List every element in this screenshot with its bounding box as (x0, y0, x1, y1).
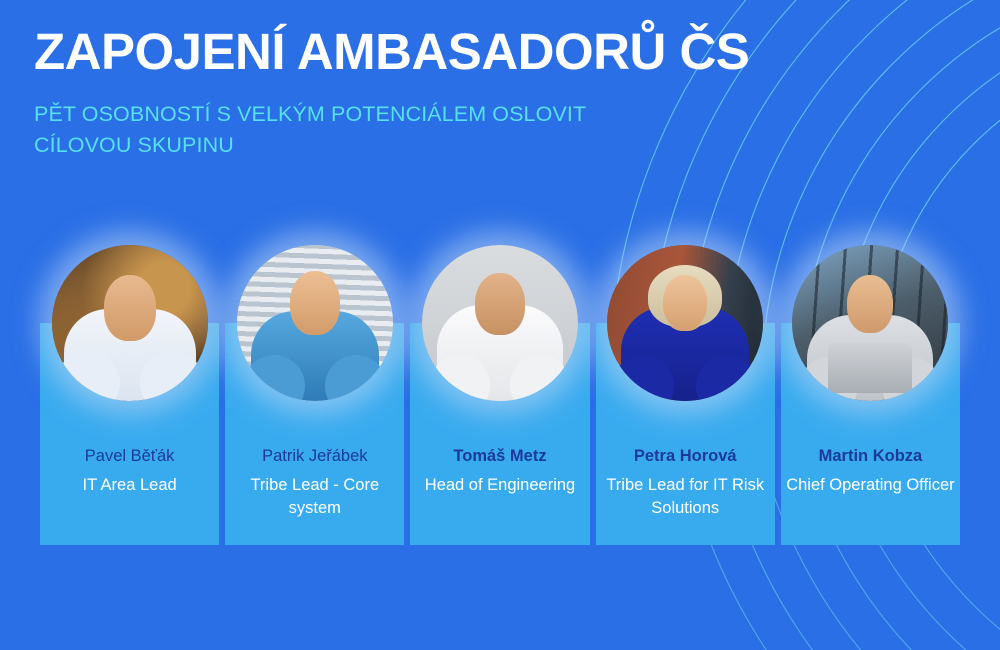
portrait-photo (607, 245, 763, 401)
person-card[interactable]: Tomáš Metz Head of Engineering (410, 245, 589, 545)
card-text: Petra Horová Tribe Lead for IT Risk Solu… (600, 445, 771, 519)
person-role: Head of Engineering (414, 474, 585, 496)
avatar (237, 245, 393, 401)
card-text: Pavel Běťák IT Area Lead (44, 445, 215, 497)
card-text: Tomáš Metz Head of Engineering (414, 445, 585, 497)
person-role: Tribe Lead for IT Risk Solutions (600, 474, 771, 519)
person-card[interactable]: Petra Horová Tribe Lead for IT Risk Solu… (596, 245, 775, 545)
ambassador-card-row: Pavel Běťák IT Area Lead Patrik Jeřábek … (40, 245, 960, 545)
card-text: Martin Kobza Chief Operating Officer (785, 445, 956, 497)
person-role: Chief Operating Officer (785, 474, 956, 496)
portrait-photo (237, 245, 393, 401)
person-card[interactable]: Martin Kobza Chief Operating Officer (781, 245, 960, 545)
person-name: Tomáš Metz (414, 445, 585, 467)
portrait-photo (52, 245, 208, 401)
avatar (422, 245, 578, 401)
portrait-photo (792, 245, 948, 401)
avatar (607, 245, 763, 401)
avatar (792, 245, 948, 401)
person-name: Patrik Jeřábek (229, 445, 400, 467)
person-name: Martin Kobza (785, 445, 956, 467)
portrait-photo (422, 245, 578, 401)
person-name: Pavel Běťák (44, 445, 215, 467)
person-name: Petra Horová (600, 445, 771, 467)
person-card[interactable]: Pavel Běťák IT Area Lead (40, 245, 219, 545)
header: ZAPOJENÍ AMBASADORŮ ČS PĚT OSOBNOSTÍ S V… (34, 24, 874, 160)
person-role: IT Area Lead (44, 474, 215, 496)
avatar (52, 245, 208, 401)
page-title: ZAPOJENÍ AMBASADORŮ ČS (34, 24, 874, 79)
person-card[interactable]: Patrik Jeřábek Tribe Lead - Core system (225, 245, 404, 545)
card-text: Patrik Jeřábek Tribe Lead - Core system (229, 445, 400, 519)
person-role: Tribe Lead - Core system (229, 474, 400, 519)
page-subtitle: PĚT OSOBNOSTÍ S VELKÝM POTENCIÁLEM OSLOV… (34, 99, 634, 160)
